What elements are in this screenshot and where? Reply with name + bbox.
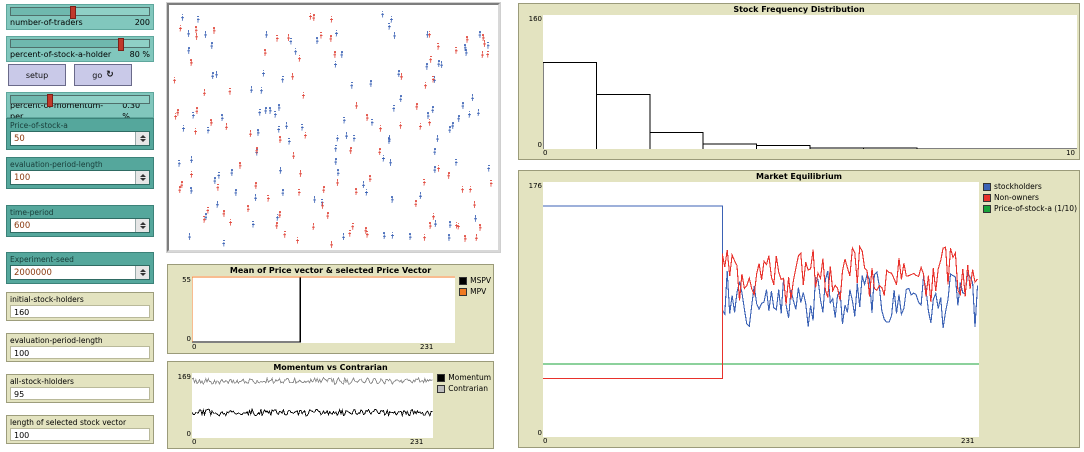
forever-loop-icon: ↻ [106,70,114,80]
plot-momentum-vs-contrarian: Momentum vs Contrarian 169 0 Momentum Co… [167,361,494,449]
agent-turtle [366,114,369,121]
agent-turtle [269,107,272,114]
slider-number-of-traders[interactable]: number-of-traders 200 [6,4,154,30]
agent-turtle [326,212,329,219]
agent-turtle [207,127,210,134]
agent-turtle [335,30,338,37]
agent-turtle [349,147,352,154]
agent-turtle [304,132,307,139]
agent-turtle [378,148,381,155]
input-label: Price-of-stock-a [10,121,150,131]
agent-turtle [281,189,284,196]
monitor-evaluation-period-length: evaluation-period-length 100 [6,333,154,362]
agent-turtle [455,159,458,166]
agent-turtle [247,205,250,212]
agent-turtle [455,222,458,229]
spinner-down-icon[interactable] [140,178,146,181]
agent-turtle [278,104,281,111]
agent-turtle [448,234,451,241]
agent-turtle [211,72,214,79]
agent-turtle [285,122,288,129]
agent-turtle [365,189,368,196]
agent-turtle [473,201,476,208]
agent-turtle [330,16,333,23]
agent-turtle [351,223,354,230]
agent-turtle [336,135,339,142]
spinner-up-icon[interactable] [140,174,146,177]
agent-turtle [334,158,337,165]
agent-turtle [182,125,185,132]
agent-turtle [382,155,385,162]
legend-item: stockholders [983,182,1077,191]
agent-turtle [294,48,297,55]
input-price-of-stock-a[interactable]: Price-of-stock-a 50 [6,118,154,150]
agent-turtle [288,138,291,145]
agent-turtle [210,119,213,126]
agent-turtle [437,60,440,67]
x-axis-max-label: 231 [961,437,974,445]
x-axis: 0 231 [168,343,493,353]
agent-turtle [449,221,452,228]
input-value[interactable]: 50 [11,132,135,145]
legend-label: MPV [470,287,486,296]
agent-turtle [283,231,286,238]
agent-turtle [345,132,348,139]
input-value[interactable]: 100 [11,171,135,184]
agent-turtle [487,165,490,172]
agent-turtle [190,187,193,194]
agent-turtle [381,11,384,18]
spinner-up-icon[interactable] [140,222,146,225]
input-experiment-seed[interactable]: Experiment-seed 2000000 [6,252,154,284]
x-axis-min-label: 0 [192,343,196,351]
agent-turtle [217,172,220,179]
slider-track[interactable] [10,39,150,48]
y-axis-max-label: 169 [178,373,191,381]
agent-turtle [190,156,193,163]
spinner-down-icon[interactable] [140,139,146,142]
agent-turtle [355,188,358,195]
agent-turtle [178,186,181,193]
agent-turtle [287,34,290,41]
agent-turtle [483,40,486,47]
agent-turtle [388,23,391,30]
agent-turtle [222,210,225,217]
agent-turtle [313,196,316,203]
plot-canvas [543,182,979,437]
x-axis-min-label: 0 [192,438,196,446]
agent-turtle [355,102,358,109]
agent-turtle [415,103,418,110]
setup-button[interactable]: setup [8,64,66,86]
agent-turtle [210,42,213,49]
slider-fill [11,8,73,15]
legend-swatch [459,277,467,285]
agent-turtle [371,119,374,126]
agent-turtle [477,109,480,116]
agent-turtle [301,124,304,131]
agent-turtle [409,233,412,240]
input-value[interactable]: 2000000 [11,266,135,279]
legend-item: Non-owners [983,193,1077,202]
agent-turtle [298,189,301,196]
y-axis: 176 0 [521,182,543,437]
agent-turtle [337,169,340,176]
monitor-all-stock-holders: all-stock-hlolders 95 [6,374,154,403]
agent-turtle [353,135,356,142]
agent-turtle [302,92,305,99]
agent-turtle [437,43,440,50]
agent-turtle [299,170,302,177]
agent-turtle [399,122,402,129]
plot-canvas [543,15,1077,149]
agent-turtle [274,111,277,118]
spinner-down-icon[interactable] [140,273,146,276]
spinner-buttons[interactable] [135,219,149,232]
agent-turtle [203,89,206,96]
world-canvas[interactable] [169,5,498,250]
legend-swatch [983,183,991,191]
agent-turtle [234,189,237,196]
agent-turtle [350,82,353,89]
agent-turtle [482,34,485,41]
agent-turtle [334,145,337,152]
agent-turtle [267,195,270,202]
agent-turtle [333,51,336,58]
spinner-up-icon[interactable] [140,135,146,138]
agent-turtle [187,47,190,54]
monitor-value: 100 [10,428,150,441]
agent-turtle [181,14,184,21]
legend-item: Contrarian [437,384,491,393]
agent-turtle [369,80,372,87]
agent-turtle [278,211,281,218]
monitor-label: all-stock-hlolders [10,376,150,387]
plot-stock-frequency-distribution: Stock Frequency Distribution 160 0 0 10 [518,3,1080,160]
y-axis-max-label: 176 [529,182,542,190]
y-axis-max-label: 55 [182,276,191,284]
plot-title: Market Equilibrium [519,171,1079,182]
agent-turtle [369,175,372,182]
input-label: evaluation-period-length [10,160,150,170]
go-button[interactable]: go ↻ [74,64,132,86]
agent-turtle [216,184,219,191]
agent-turtle [437,165,440,172]
agent-turtle [434,220,437,227]
agent-turtle [400,73,403,80]
monitor-label: length of selected stock vector [10,417,150,428]
monitor-initial-stock-holders: initial-stock-holders 160 [6,292,154,321]
agent-turtle [392,105,395,112]
agent-turtle [423,234,426,241]
agent-turtle [173,77,176,84]
slider-knob[interactable] [118,38,124,51]
legend-item: MSPV [459,276,491,285]
agent-turtle [275,222,278,229]
agent-turtle [265,31,268,38]
agent-turtle [260,87,263,94]
plot-legend: Momentum Contrarian [433,373,491,438]
plot-market-equilibrium: Market Equilibrium 176 0 stockholders No… [518,170,1080,448]
agent-turtle [225,123,228,130]
agent-turtle [487,42,490,49]
x-axis-max-label: 231 [420,343,433,351]
y-axis: 160 0 [521,15,543,149]
agent-turtle [428,31,431,38]
plot-title: Momentum vs Contrarian [168,362,493,373]
agent-turtle [490,180,493,187]
agent-turtle [197,16,200,23]
agent-turtle [279,167,282,174]
plot-canvas [192,276,455,343]
agent-turtle [264,107,267,114]
agent-turtle [178,160,181,167]
legend-label: Contrarian [448,384,488,393]
agent-turtle [252,221,255,228]
agent-turtle [277,126,280,133]
agent-turtle [254,182,257,189]
agent-turtle [428,119,431,126]
agent-turtle [469,186,472,193]
agent-turtle [249,130,252,137]
agent-turtle [292,152,295,159]
spinner-buttons[interactable] [135,266,149,279]
agent-turtle [187,30,190,37]
legend-item: Price-of-stock-a (1/10) [983,204,1077,213]
plot-mean-of-price-vector: Mean of Price vector & selected Price Ve… [167,264,494,354]
agent-turtle [250,86,253,93]
agent-turtle [383,232,386,239]
agent-turtle [190,59,193,66]
agent-turtle [264,49,267,56]
x-axis-max-label: 10 [1066,149,1075,157]
input-value[interactable]: 600 [11,219,135,232]
agent-turtle [194,128,197,135]
input-time-period[interactable]: time-period 600 [6,205,154,237]
agent-turtle [195,26,198,33]
spinner-buttons[interactable] [135,132,149,145]
agent-turtle [298,55,301,62]
agent-turtle [213,27,216,34]
agent-turtle [203,216,206,223]
agent-turtle [254,194,257,201]
agent-turtle [390,16,393,23]
agent-turtle [475,234,478,241]
setup-button-label: setup [26,71,48,80]
agent-turtle [179,25,182,32]
x-axis-max-label: 231 [410,438,423,446]
legend-label: Price-of-stock-a (1/10) [994,204,1077,213]
x-axis-min-label: 0 [543,437,547,445]
agent-turtle [222,240,225,247]
agent-turtle [479,224,482,231]
agent-turtle [455,47,458,54]
slider-track[interactable] [10,95,150,104]
agent-turtle [343,117,346,124]
y-axis: 169 0 [170,373,192,438]
agent-turtle [316,37,319,44]
plot-canvas [192,373,433,438]
agent-turtle [461,102,464,109]
plot-legend: stockholders Non-owners Price-of-stock-a… [979,182,1077,437]
agent-turtle [255,147,258,154]
agent-turtle [399,95,402,102]
agent-turtle [257,129,260,136]
legend-label: stockholders [994,182,1042,191]
agent-turtle [334,61,337,68]
agent-turtle [276,35,279,42]
legend-swatch [437,374,445,382]
plot-title: Stock Frequency Distribution [519,4,1079,15]
legend-label: Momentum [448,373,491,382]
agent-turtle [466,36,469,43]
legend-label: MSPV [470,276,491,285]
y-axis-max-label: 160 [529,15,542,23]
agent-turtle [431,106,434,113]
agent-turtle [364,227,367,234]
x-axis-min-label: 0 [543,149,547,157]
agent-turtle [414,200,417,207]
slider-knob[interactable] [70,6,76,19]
agent-turtle [279,136,282,143]
agent-turtle [188,233,191,240]
y-axis-min-label: 0 [187,335,191,343]
agent-turtle [419,192,422,199]
agent-turtle [348,230,351,237]
agent-turtle [336,179,339,186]
agent-turtle [440,61,443,68]
y-axis-min-label: 0 [538,429,542,437]
control-panel: number-of-traders 200 percent-of-stock-a… [6,4,154,62]
spinner-buttons[interactable] [135,171,149,184]
agent-turtle [393,32,396,39]
slider-label: percent-of-stock-a-holder [10,49,111,60]
agent-turtle [429,56,432,63]
agent-turtle [330,241,333,248]
input-evaluation-period-length[interactable]: evaluation-period-length 100 [6,157,154,189]
y-axis-min-label: 0 [187,430,191,438]
agent-turtle [195,33,198,40]
slider-track[interactable] [10,7,150,16]
spinner-up-icon[interactable] [140,269,146,272]
legend-swatch [459,288,467,296]
agent-turtle [281,76,284,83]
slider-percent-of-stock-a-holder[interactable]: percent-of-stock-a-holder 80 % [6,36,154,62]
slider-fill [11,40,121,47]
agent-turtle [221,114,224,121]
monitor-value: 95 [10,387,150,400]
legend-swatch [437,385,445,393]
spinner-down-icon[interactable] [140,226,146,229]
agent-turtle [451,122,454,129]
agent-turtle [432,213,435,220]
agent-turtle [296,237,299,244]
agent-turtle [206,207,209,214]
slider-percent-of-momentum[interactable]: percent-of-momentum-per... 0.30 % [6,92,154,118]
y-axis-min-label: 0 [538,141,542,149]
agent-turtle [461,186,464,193]
agent-turtle [433,166,436,173]
agent-turtle [340,51,343,58]
agent-turtle [309,13,312,20]
agent-turtle [176,109,179,116]
agent-turtle [471,94,474,101]
agent-turtle [379,125,382,132]
agent-turtle [329,35,332,42]
plot-title: Mean of Price vector & selected Price Ve… [168,265,493,276]
slider-knob[interactable] [47,94,53,107]
agent-turtle [432,76,435,83]
agent-turtle [258,109,261,116]
legend-item: MPV [459,287,491,296]
agent-turtle [362,181,365,188]
agent-turtle [216,201,219,208]
agent-turtle [312,223,315,230]
agent-turtle [391,196,394,203]
agent-turtle [391,232,394,239]
agent-turtle [322,186,325,193]
agent-turtle [481,51,484,58]
x-axis: 0 231 [519,437,1079,447]
button-row: setup go ↻ [6,64,154,86]
agent-turtle [190,171,193,178]
agent-turtle [464,44,467,51]
agent-turtle [457,115,460,122]
agent-turtle [228,88,231,95]
slider-fill [11,96,50,103]
agent-turtle [342,233,345,240]
agent-turtle [215,71,218,78]
legend-swatch [983,194,991,202]
agent-turtle [433,148,436,155]
x-axis: 0 231 [168,438,493,448]
agent-turtle [239,162,242,169]
monitor-length-of-selected-stock-vector: length of selected stock vector 100 [6,415,154,444]
go-button-label: go [92,71,102,80]
input-label: time-period [10,208,150,218]
monitor-label: evaluation-period-length [10,335,150,346]
agent-turtle [291,73,294,80]
monitor-value: 100 [10,346,150,359]
agent-turtle [429,222,432,229]
legend-swatch [983,205,991,213]
input-label: Experiment-seed [10,255,150,265]
agent-turtle [312,14,315,21]
agent-turtle [436,135,439,142]
slider-value: 80 % [130,49,150,60]
agent-turtle [192,112,195,119]
slider-value: 200 [135,17,150,28]
world-view[interactable] [167,3,500,252]
agent-turtle [388,137,391,144]
agent-turtle [474,215,477,222]
x-axis: 0 10 [519,149,1079,159]
agent-turtle [419,123,422,130]
agent-turtle [423,179,426,186]
monitor-label: initial-stock-holders [10,294,150,305]
agent-turtle [389,159,392,166]
agent-turtle [195,107,198,114]
legend-item: Momentum [437,373,491,382]
agent-turtle [204,31,207,38]
agent-turtle [262,70,265,77]
agent-turtle [447,172,450,179]
agent-turtle [468,111,471,118]
agent-turtle [320,32,323,39]
plot-legend: MSPV MPV [455,276,491,343]
agent-turtle [321,202,324,209]
monitor-value: 160 [10,305,150,318]
